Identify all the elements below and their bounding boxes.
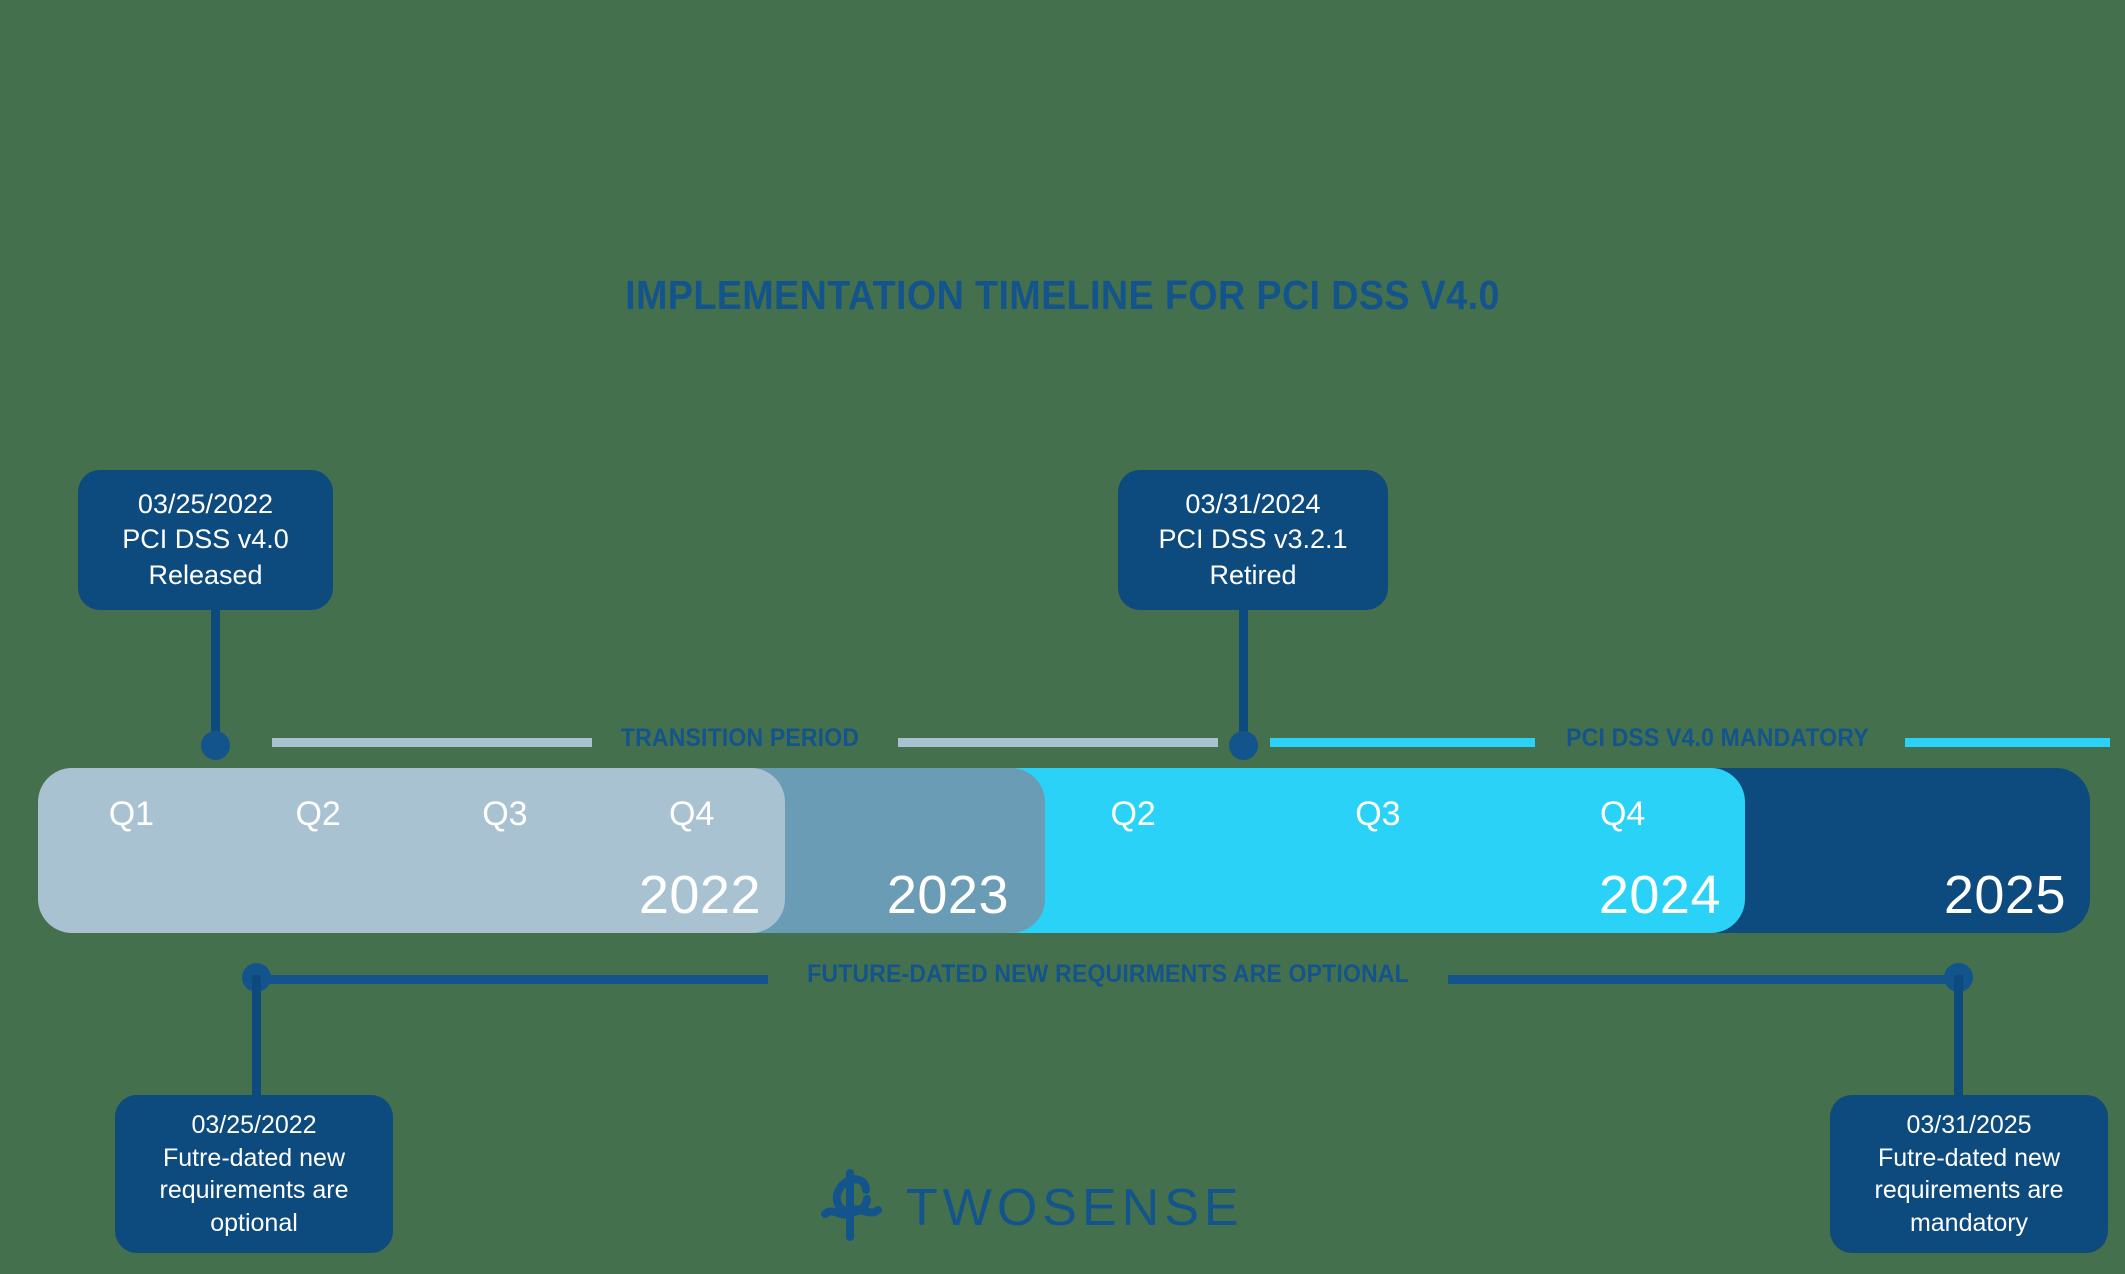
callout-pci-dss-v321-retired: 03/31/2024 PCI DSS v3.2.1 Retired	[1118, 470, 1388, 610]
logo-wordmark: TWOSENSE	[906, 1178, 1244, 1238]
callout-released-line3: Released	[148, 558, 262, 593]
rule-transition-right	[898, 738, 1218, 747]
callout-future-dated-optional: 03/25/2022 Futre-dated new requirements …	[115, 1095, 393, 1253]
callout-mandatory-line4: mandatory	[1910, 1207, 2028, 1240]
rule-lower-right	[1448, 975, 1958, 984]
span-label-future-dated-optional: FUTURE-DATED NEW REQUIRMENTS ARE OPTIONA…	[795, 960, 1421, 989]
rule-lower-left	[268, 975, 768, 984]
quarter-label: Q4	[1500, 795, 1745, 834]
twosense-logo: TWOSENSE	[820, 1168, 1244, 1247]
quarter-label: Q1	[38, 795, 225, 834]
connector-stem-released	[211, 600, 220, 752]
quarter-spacer	[1889, 795, 2090, 834]
callout-optional-date: 03/25/2022	[191, 1109, 316, 1142]
connector-dot-retired	[1229, 731, 1258, 760]
callout-released-line2: PCI DSS v4.0	[122, 522, 289, 557]
quarter-label: Q2	[1011, 795, 1256, 834]
callout-pci-dss-v4-released: 03/25/2022 PCI DSS v4.0 Released	[78, 470, 333, 610]
timeline-bar: Q1 Q2 2025 Q1 Q2 Q3 Q4 2024 2023 Q1 Q2 Q…	[38, 768, 2090, 933]
connector-stem-retired	[1239, 600, 1248, 752]
year-label-2024: 2024	[1599, 864, 1721, 926]
callout-retired-date: 03/31/2024	[1185, 487, 1320, 522]
year-label-2023: 2023	[887, 864, 1009, 926]
span-label-pci-dss-v4-mandatory: PCI DSS V4.0 MANDATORY	[1550, 724, 1886, 753]
callout-mandatory-line2: Futre-dated new	[1878, 1142, 2060, 1175]
span-label-transition-period: TRANSITION PERIOD	[611, 724, 869, 753]
connector-stem-mandatory	[1954, 975, 1963, 1099]
timeline-segment-2022: Q1 Q2 Q3 Q4 2022	[38, 768, 785, 933]
callout-future-dated-mandatory: 03/31/2025 Futre-dated new requirements …	[1830, 1095, 2108, 1253]
callout-optional-line4: optional	[210, 1207, 298, 1240]
page-title: IMPLEMENTATION TIMELINE FOR PCI DSS V4.0	[85, 272, 2040, 319]
quarter-label: Q3	[412, 795, 599, 834]
rule-mandatory-left	[1270, 738, 1535, 747]
callout-released-date: 03/25/2022	[138, 487, 273, 522]
quarter-labels-2022: Q1 Q2 Q3 Q4	[38, 795, 785, 834]
callout-mandatory-date: 03/31/2025	[1906, 1109, 2031, 1142]
year-label-2025: 2025	[1944, 864, 2066, 926]
connector-dot-released	[201, 731, 230, 760]
callout-optional-line3: requirements are	[160, 1174, 349, 1207]
twosense-knot-icon	[820, 1168, 886, 1247]
quarter-label: Q4	[598, 795, 785, 834]
callout-optional-line2: Futre-dated new	[163, 1142, 345, 1175]
year-label-2022: 2022	[639, 864, 761, 926]
callout-mandatory-line3: requirements are	[1875, 1174, 2064, 1207]
rule-transition-left	[272, 738, 592, 747]
callout-retired-line2: PCI DSS v3.2.1	[1158, 522, 1347, 557]
quarter-label: Q2	[225, 795, 412, 834]
callout-retired-line3: Retired	[1209, 558, 1296, 593]
rule-mandatory-right	[1905, 738, 2110, 747]
quarter-label: Q3	[1256, 795, 1501, 834]
connector-stem-optional	[252, 975, 261, 1099]
